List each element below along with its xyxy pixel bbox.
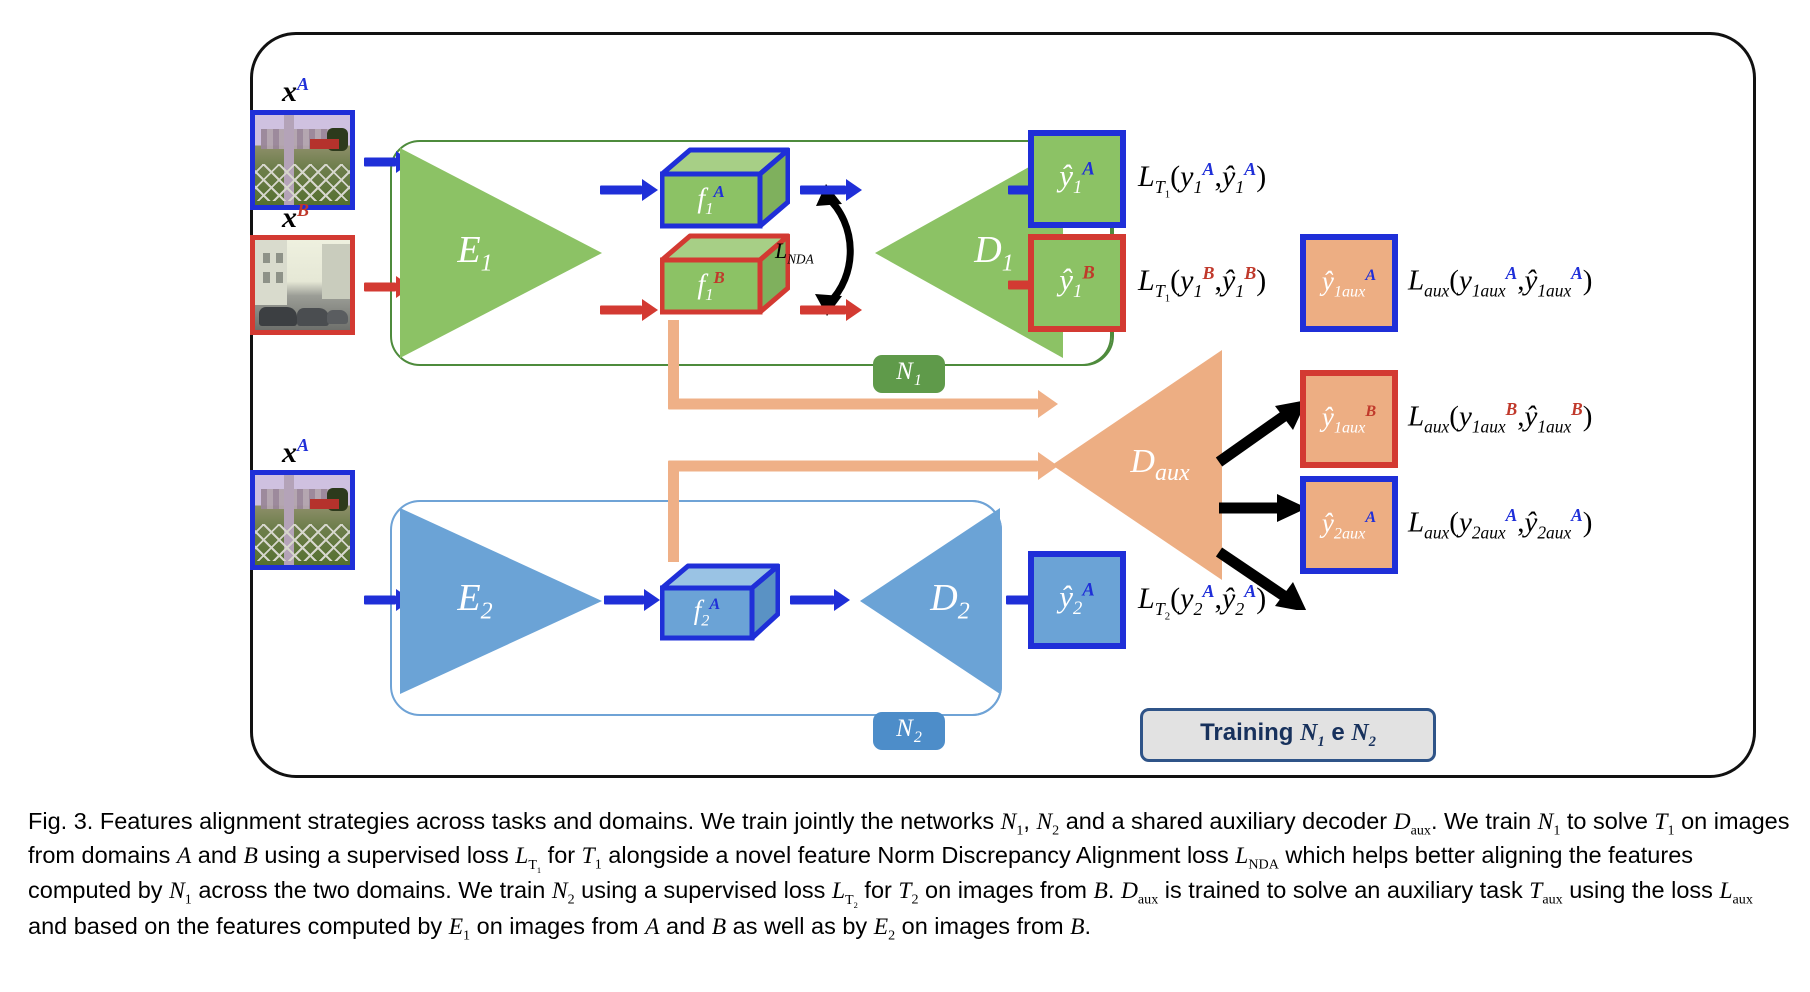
input-xb-top-image bbox=[255, 240, 350, 330]
skip-line-f2a-vertical bbox=[668, 466, 679, 562]
figure-caption: Fig. 3. Features alignment strategies ac… bbox=[28, 806, 1790, 945]
caption-label: Fig. 3. bbox=[28, 808, 93, 834]
loss-aux-1b: Laux(y1auxB,ŷ1auxB) bbox=[1408, 401, 1592, 436]
pred-y1b: ŷ1B bbox=[1028, 234, 1126, 332]
legend-text: Training N1 e N2 bbox=[1200, 719, 1376, 751]
feature-f2a: f2A bbox=[660, 562, 780, 642]
input-xb-top bbox=[250, 235, 355, 335]
skip-line-f1b-vertical bbox=[668, 320, 679, 404]
input-xa-top-image bbox=[255, 115, 350, 205]
loss-aux-2a: Laux(y2auxA,ŷ2auxA) bbox=[1408, 507, 1592, 542]
pred-y2aux-a: ŷ2auxA bbox=[1300, 476, 1398, 574]
figure-root: xA xB xA E1 bbox=[0, 0, 1810, 992]
pred-y1aux-a: ŷ1auxA bbox=[1300, 234, 1398, 332]
feature-f1a: f1A bbox=[660, 146, 790, 230]
input-xa-top bbox=[250, 110, 355, 210]
badge-n2: N2 bbox=[873, 712, 945, 750]
feature-f1b: f1B bbox=[660, 232, 790, 316]
input-xa-bottom bbox=[250, 470, 355, 570]
input-xa-bottom-image bbox=[255, 475, 350, 565]
loss-t1-b: LT1(y1B,ŷ1B) bbox=[1138, 264, 1266, 304]
pred-y1a: ŷ1A bbox=[1028, 130, 1126, 228]
loss-t2-a: LT2(y2A,ŷ2A) bbox=[1138, 582, 1266, 622]
nda-loss-label: LNDA bbox=[775, 238, 814, 267]
loss-aux-1a: Laux(y1auxA,ŷ1auxA) bbox=[1408, 265, 1592, 300]
input-label-xa-top: xA bbox=[282, 74, 309, 109]
loss-t1-a: LT1(y1A,ŷ1A) bbox=[1138, 160, 1266, 200]
input-label-xa-bottom: xA bbox=[282, 435, 309, 470]
pred-y1aux-b: ŷ1auxB bbox=[1300, 370, 1398, 468]
input-label-xb-top: xB bbox=[282, 200, 309, 235]
legend-training-box: Training N1 e N2 bbox=[1140, 708, 1436, 762]
pred-y2a: ŷ2A bbox=[1028, 551, 1126, 649]
badge-n1: N1 bbox=[873, 355, 945, 393]
